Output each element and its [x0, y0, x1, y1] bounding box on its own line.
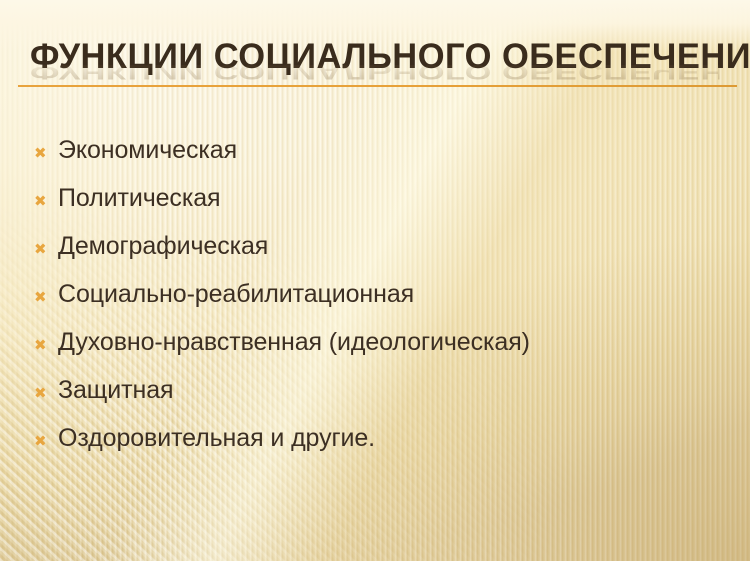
list-item: ✖ Защитная	[34, 375, 724, 423]
bullet-x-icon: ✖	[34, 290, 58, 305]
list-item: ✖ Демографическая	[34, 231, 724, 279]
bullet-x-icon: ✖	[34, 242, 58, 257]
list-item-label: Политическая	[58, 183, 724, 213]
presentation-slide: Функции социального обеспечения Функции …	[0, 0, 750, 561]
bullet-x-icon: ✖	[34, 386, 58, 401]
list-item-label: Социально-реабилитационная	[58, 279, 724, 309]
list-item-label: Демографическая	[58, 231, 724, 261]
slide-title-block: Функции социального обеспечения Функции …	[0, 34, 750, 122]
bullet-x-icon: ✖	[34, 194, 58, 209]
bullet-x-icon: ✖	[34, 338, 58, 353]
list-item-label: Духовно-нравственная (идеологическая)	[58, 327, 724, 357]
list-item-label: Экономическая	[58, 135, 724, 165]
bullet-list: ✖ Экономическая ✖ Политическая ✖ Демогра…	[34, 135, 724, 471]
bullet-x-icon: ✖	[34, 434, 58, 449]
list-item: ✖ Социально-реабилитационная	[34, 279, 724, 327]
list-item-label: Защитная	[58, 375, 724, 405]
list-item: ✖ Оздоровительная и другие.	[34, 423, 724, 471]
slide-title: Функции социального обеспечения	[30, 34, 720, 80]
bullet-x-icon: ✖	[34, 146, 58, 161]
list-item-label: Оздоровительная и другие.	[58, 423, 724, 453]
list-item: ✖ Политическая	[34, 183, 724, 231]
title-underline-rule	[18, 85, 737, 87]
list-item: ✖ Духовно-нравственная (идеологическая)	[34, 327, 724, 375]
list-item: ✖ Экономическая	[34, 135, 724, 183]
